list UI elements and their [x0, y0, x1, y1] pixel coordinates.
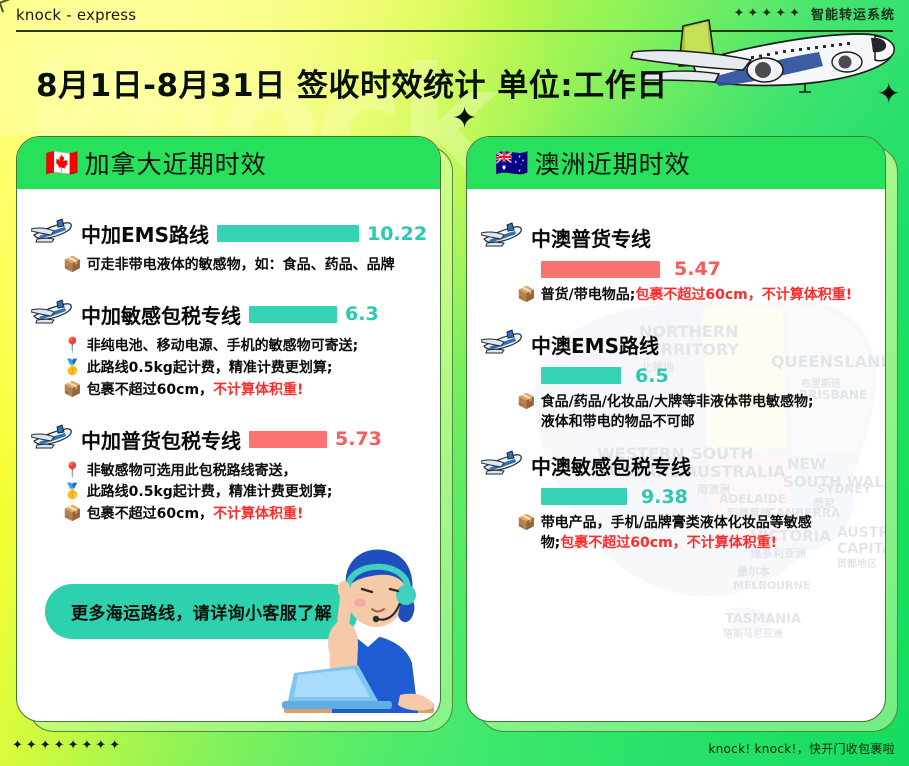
route-header: 中澳普货专线	[467, 221, 885, 254]
svg-text:MELBOURNE: MELBOURNE	[733, 579, 810, 592]
bullet-text-main: 包裹不超过60cm，	[87, 506, 213, 522]
route-bar-row: 5.47	[467, 258, 885, 280]
route-name: 中澳普货专线	[531, 223, 651, 252]
route-name: 中澳EMS路线	[531, 330, 659, 359]
airplane-icon	[481, 449, 523, 482]
route-header: 中澳敏感包税专线	[467, 449, 885, 482]
route-bar	[541, 488, 627, 505]
bullet-text: 非敏感物可选用此包税路线寄送，	[87, 461, 297, 482]
svg-text:墨尔本: 墨尔本	[737, 564, 770, 578]
route-row: 中加普货包税专线 5.73 📍 非敏感物可选用此包税路线寄送， 🥇 此路线0.5…	[17, 423, 440, 526]
package-icon: 📦	[63, 255, 82, 275]
list-item: 🥇 此路线0.5kg起计费，精准计费更划算;	[63, 482, 440, 503]
list-item: 📦 带电产品，手机/品牌膏类液体化妆品等敏感 物;包裹不超过60cm，不计算体积…	[517, 513, 885, 554]
card-canada-body: 中加EMS路线 10.22 📦 可走非带电液体的敏感物，如：食品、药品、品牌	[17, 189, 440, 721]
footer-note: knock! knock!，快开门收包裹啦	[708, 740, 895, 757]
package-icon: 📦	[63, 380, 82, 400]
card-canada-header: 🇨🇦 加拿大近期时效	[17, 137, 440, 189]
route-row: 中澳普货专线 5.47 📦 普货/带电物品;包裹不超过60cm，不计算体积重!	[467, 221, 885, 306]
list-item: 📦 普货/带电物品;包裹不超过60cm，不计算体积重!	[517, 285, 885, 306]
list-item: 🥇 此路线0.5kg起计费，精准计费更划算;	[63, 358, 440, 379]
airplane-icon	[31, 423, 73, 456]
bullet-text: 非纯电池、移动电源、手机的敏感物可寄送;	[87, 336, 359, 357]
svg-text:TASMANIA: TASMANIA	[725, 612, 801, 627]
list-item: 📍 非敏感物可选用此包税路线寄送，	[63, 461, 440, 482]
airplane-icon	[31, 217, 73, 250]
bullet-text: 此路线0.5kg起计费，精准计费更划算;	[87, 358, 333, 379]
route-header: 中加EMS路线 10.22	[17, 217, 440, 250]
package-icon: 📦	[63, 504, 82, 524]
route-name: 中加敏感包税专线	[81, 300, 241, 329]
route-bar-row: 9.38	[467, 486, 885, 508]
airplane-icon	[481, 328, 523, 361]
route-bullets: 📍 非敏感物可选用此包税路线寄送， 🥇 此路线0.5kg起计费，精准计费更划算;…	[17, 461, 440, 526]
route-bar	[249, 306, 337, 323]
bullet-text: 可走非带电液体的敏感物，如：食品、药品、品牌	[87, 255, 395, 276]
medal-icon: 🥇	[63, 482, 82, 502]
svg-text:塔斯马尼亚洲: 塔斯马尼亚洲	[723, 627, 783, 640]
card-australia: 🇦🇺 澳洲近期时效 NORTHERN	[466, 136, 886, 722]
medal-icon: 🥇	[63, 358, 82, 378]
bullet-warning-text: 包裹不超过60cm，不计算体积重!	[635, 287, 852, 303]
route-row: 中澳敏感包税专线 9.38 📦 带电产品，手机/品牌膏类液体化妆品等敏感 物;包…	[467, 449, 885, 554]
route-header: 中加敏感包税专线 6.3	[17, 298, 440, 331]
list-item: 📦 包裹不超过60cm，不计算体积重!	[63, 380, 440, 401]
route-row: 中加EMS路线 10.22 📦 可走非带电液体的敏感物，如：食品、药品、品牌	[17, 217, 440, 276]
canada-flag-icon: 🇨🇦	[45, 150, 79, 177]
route-value: 9.38	[641, 486, 688, 508]
route-bullets: 📦 普货/带电物品;包裹不超过60cm，不计算体积重!	[467, 285, 885, 306]
card-australia-body: NORTHERN TERRITORY 北领地 QUEENSLAND WESTER…	[467, 189, 885, 721]
route-bar	[541, 367, 621, 384]
bullet-text: 普货/带电物品;包裹不超过60cm，不计算体积重!	[541, 285, 852, 306]
route-value: 6.5	[635, 365, 669, 387]
poster-canvas: knock knock - express ✦✦✦✦✦ 智能转运系统	[0, 0, 909, 766]
package-icon: 📦	[517, 285, 536, 305]
route-value: 10.22	[367, 223, 427, 245]
bullet-text: 此路线0.5kg起计费，精准计费更划算;	[87, 482, 333, 503]
location-pin-icon: 📍	[63, 461, 82, 481]
route-bar	[541, 261, 660, 278]
route-header: 中澳EMS路线	[467, 328, 885, 361]
customer-service-agent-illustration	[236, 535, 441, 722]
location-pin-icon: 📍	[63, 336, 82, 356]
card-australia-title: 澳洲近期时效	[535, 145, 691, 181]
route-name: 中加普货包税专线	[81, 425, 241, 454]
window-title: knock - express	[16, 6, 136, 24]
bullet-text: 包裹不超过60cm，不计算体积重!	[87, 504, 304, 525]
australia-flag-icon: 🇦🇺	[495, 150, 529, 177]
bullet-text-main: 包裹不超过60cm，	[87, 382, 213, 398]
route-value: 6.3	[345, 303, 379, 325]
route-bar	[217, 225, 359, 242]
list-item: 📦 食品/药品/化妆品/大牌等非液体带电敏感物; 液体和带电的物品不可邮	[517, 392, 885, 433]
card-canada: 🇨🇦 加拿大近期时效 中加EMS路线 10.22 📦 可走非带电液体的敏感物	[16, 136, 441, 722]
package-icon: 📦	[517, 392, 536, 412]
airplane-icon	[31, 298, 73, 331]
star-sparkle-icon: ✦	[452, 104, 477, 134]
route-bullets: 📦 可走非带电液体的敏感物，如：食品、药品、品牌	[17, 255, 440, 276]
card-australia-header: 🇦🇺 澳洲近期时效	[467, 137, 885, 189]
route-name: 中澳敏感包税专线	[531, 451, 691, 480]
footer-bar: ✦✦✦✦✦✦✦✦ knock! knock!，快开门收包裹啦	[0, 730, 909, 766]
route-bar	[249, 431, 327, 448]
bullet-warning-text: 包裹不超过60cm，不计算体积重!	[560, 535, 777, 551]
route-row: 中澳EMS路线 6.5 📦 食品/药品/化妆品/大牌等非液体带电敏感物; 液体和…	[467, 328, 885, 433]
page-title: 8月1日-8月31日 签收时效统计 单位:工作日	[36, 60, 668, 105]
bullet-warning-text: 不计算体积重!	[213, 382, 303, 398]
package-icon: 📦	[517, 513, 536, 533]
list-item: 📦 可走非带电液体的敏感物，如：食品、药品、品牌	[63, 255, 440, 276]
corner-mark-icon	[0, 0, 13, 13]
bullet-text-main: 普货/带电物品;	[541, 287, 636, 303]
route-bullets: 📦 带电产品，手机/品牌膏类液体化妆品等敏感 物;包裹不超过60cm，不计算体积…	[467, 513, 885, 554]
diamond-row-icon: ✦✦✦✦✦✦✦✦	[12, 738, 123, 753]
list-item: 📦 包裹不超过60cm，不计算体积重!	[63, 504, 440, 525]
list-item: 📍 非纯电池、移动电源、手机的敏感物可寄送;	[63, 336, 440, 357]
route-value: 5.73	[335, 428, 382, 450]
bullet-text: 带电产品，手机/品牌膏类液体化妆品等敏感 物;包裹不超过60cm，不计算体积重!	[541, 513, 812, 554]
route-bar-row: 6.5	[467, 365, 885, 387]
star-sparkle-icon: ✦	[877, 80, 900, 108]
route-name: 中加EMS路线	[81, 219, 209, 248]
route-bullets: 📦 食品/药品/化妆品/大牌等非液体带电敏感物; 液体和带电的物品不可邮	[467, 392, 885, 433]
bullet-text: 食品/药品/化妆品/大牌等非液体带电敏感物; 液体和带电的物品不可邮	[541, 392, 814, 433]
bullet-text: 包裹不超过60cm，不计算体积重!	[87, 380, 304, 401]
card-canada-title: 加拿大近期时效	[85, 145, 267, 181]
bullet-warning-text: 不计算体积重!	[213, 506, 303, 522]
route-value: 5.47	[674, 258, 721, 280]
route-row: 中加敏感包税专线 6.3 📍 非纯电池、移动电源、手机的敏感物可寄送; 🥇 此路…	[17, 298, 440, 401]
airplane-icon	[481, 221, 523, 254]
route-header: 中加普货包税专线 5.73	[17, 423, 440, 456]
route-bullets: 📍 非纯电池、移动电源、手机的敏感物可寄送; 🥇 此路线0.5kg起计费，精准计…	[17, 336, 440, 401]
svg-text:首都地区: 首都地区	[837, 557, 877, 570]
